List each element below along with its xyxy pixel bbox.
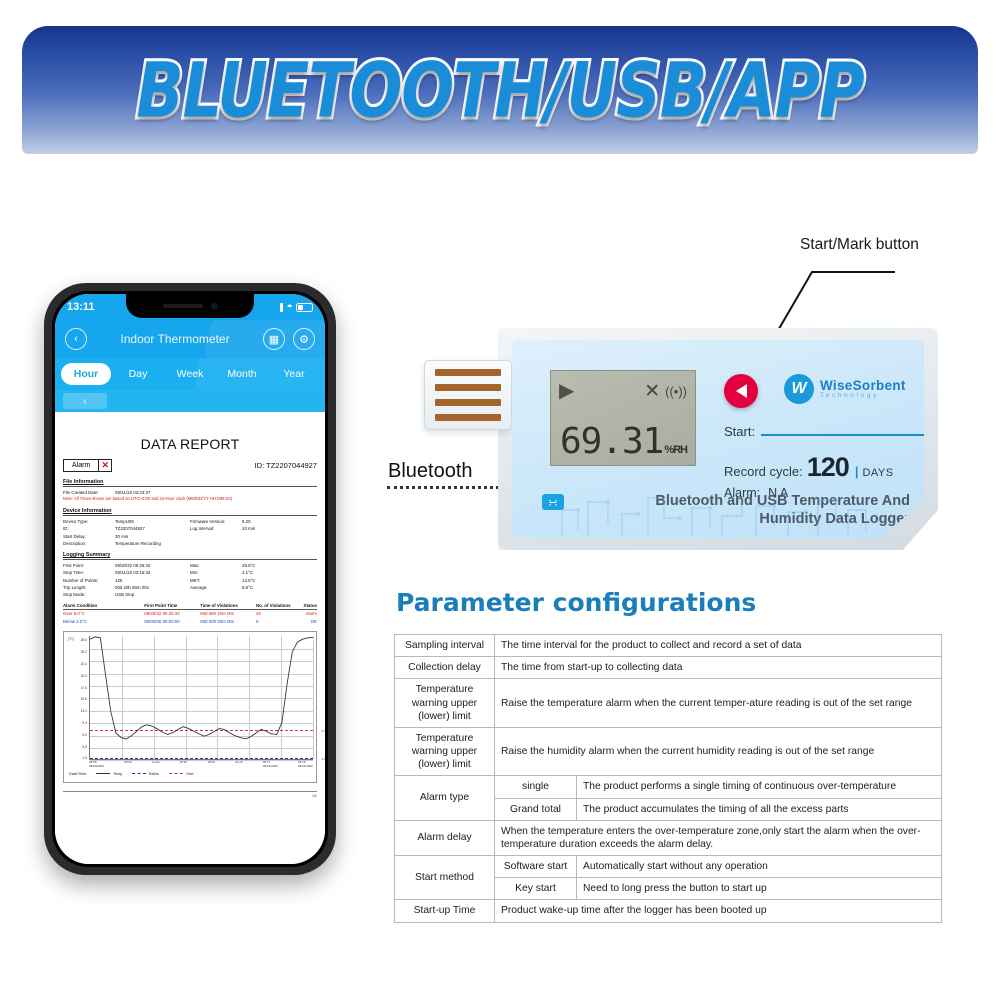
table-row: Temperature warning upper (lower) limit … bbox=[395, 727, 942, 776]
col-header: Alarm Condition bbox=[63, 603, 144, 608]
start-mark-button[interactable] bbox=[724, 374, 758, 408]
key: MKT: bbox=[190, 577, 242, 584]
y-tick: 17.8 bbox=[67, 686, 87, 690]
logging-left: First Point:09/20/22 06:26:32 Stop Time:… bbox=[63, 562, 190, 598]
lcd-unit: %RH bbox=[664, 445, 687, 459]
divider: | bbox=[855, 464, 859, 479]
report-title: DATA REPORT bbox=[63, 436, 317, 452]
key: First Point: bbox=[63, 562, 115, 569]
record-cycle-value: 120 bbox=[807, 452, 849, 483]
legend-item-below: Below bbox=[132, 772, 159, 776]
line-swatch bbox=[169, 773, 183, 774]
datetime-label: Date/Time bbox=[69, 772, 86, 776]
line-swatch bbox=[96, 773, 110, 774]
key: Start Delay: bbox=[63, 533, 115, 540]
y-tick: 6.0 bbox=[67, 733, 87, 737]
y-tick: 13.2 bbox=[67, 709, 87, 713]
sub-back-button[interactable]: ‹ bbox=[63, 393, 107, 409]
param-sub-label: Software start bbox=[495, 856, 577, 878]
value: 09/20/22 06:26:32 bbox=[115, 562, 190, 569]
kv-row: ID:TZ2207044927 bbox=[63, 525, 190, 532]
legend-item-temp: Temp bbox=[96, 772, 122, 776]
kv-row: Stop Mode:USB Stop bbox=[63, 591, 190, 598]
param-label: Start method bbox=[395, 856, 495, 900]
report-id: ID: TZ2207044927 bbox=[255, 461, 317, 470]
cell: 32 bbox=[256, 610, 297, 617]
param-label: Alarm delay bbox=[395, 820, 495, 855]
lcd-right-icons: ✕ ((•)) bbox=[644, 382, 687, 401]
table-row: Over 8.0°C 09/20/22 06:26:32 00d 05h 10m… bbox=[63, 610, 317, 617]
tab-month[interactable]: Month bbox=[217, 363, 267, 385]
phone-mockup: 13:11 ◓ ‹ Indoor Thermometer ▦ ⚙ Hour Da… bbox=[44, 283, 336, 875]
param-desc: The time from start-up to collecting dat… bbox=[495, 657, 942, 679]
file-information-heading: File Information bbox=[63, 479, 317, 487]
app-bar: ‹ Indoor Thermometer ▦ ⚙ bbox=[55, 320, 325, 358]
kv-row: Start Delay:30 min bbox=[63, 533, 190, 540]
param-label: Start-up Time bbox=[395, 900, 495, 922]
battery-icon bbox=[296, 303, 313, 312]
x-tick: 03:16 09/21/2022 bbox=[298, 761, 313, 768]
legend-item-over: Over bbox=[169, 772, 194, 776]
col-header: No. of Violations bbox=[256, 603, 297, 608]
key: Device Type: bbox=[63, 518, 115, 525]
chart-plot-area: 28.525.222.420.017.815.613.29.46.03.81.5… bbox=[67, 636, 313, 760]
app-title: Indoor Thermometer bbox=[95, 332, 255, 346]
cross-icon: ✕ bbox=[98, 460, 111, 471]
logging-summary-grid: First Point:09/20/22 06:26:32 Stop Time:… bbox=[63, 562, 317, 598]
value: 8.5°C bbox=[242, 584, 317, 591]
usb-pin bbox=[435, 369, 501, 376]
kv-row: Firmware Version:5.20 bbox=[190, 518, 317, 525]
kv-row: Log Interval:10 min bbox=[190, 525, 317, 532]
table-row: Start-up Time Product wake-up time after… bbox=[395, 900, 942, 922]
start-write-line bbox=[761, 434, 924, 436]
col-header: Status bbox=[297, 603, 317, 608]
plot-canvas: 8.0°C2.0°C bbox=[89, 636, 313, 760]
key: Description: bbox=[63, 540, 115, 547]
temperature-chart: [°C] 28.525.222.420.017.815.613.29.46.03… bbox=[63, 631, 317, 783]
lcd-indicator-row: ▶ ✕ ((•)) bbox=[559, 377, 687, 405]
cell: 00d 05h 10m 00s bbox=[200, 610, 256, 617]
x-tick: 06:26 09/20/2022 bbox=[89, 761, 104, 768]
param-desc: Need to long press the button to start u… bbox=[577, 878, 942, 900]
kv-row: Stop Time:09/21/22 03:16:32 bbox=[63, 569, 190, 576]
device-face: ▶ ✕ ((•)) 69.31 %RH W WiseSorbent Techno… bbox=[512, 340, 924, 538]
start-label: Start: bbox=[724, 424, 755, 439]
value: 28.5°C bbox=[242, 562, 317, 569]
param-label: Temperature warning upper (lower) limit bbox=[395, 727, 495, 776]
param-label: Collection delay bbox=[395, 657, 495, 679]
kv-row: Device Type:TempU05 bbox=[63, 518, 190, 525]
param-label: Sampling interval bbox=[395, 635, 495, 657]
value: TZ2207044927 bbox=[115, 525, 190, 532]
parameter-configurations-table: Sampling interval The time interval for … bbox=[394, 634, 942, 923]
sub-navigation-bar: ‹ bbox=[55, 390, 325, 412]
bar-chart-icon[interactable]: ▦ bbox=[263, 328, 285, 350]
status-icons: ◓ bbox=[280, 302, 313, 313]
play-icon: ▶ bbox=[559, 381, 574, 401]
banner-title: BLUETOOTH/USB/APP bbox=[136, 45, 863, 134]
temp-series-line bbox=[90, 636, 313, 759]
cell: Over 8.0°C bbox=[63, 610, 144, 617]
usb-pin bbox=[435, 399, 501, 406]
tab-hour[interactable]: Hour bbox=[61, 363, 111, 385]
earpiece-speaker bbox=[163, 304, 203, 308]
value: 5.20 bbox=[242, 518, 317, 525]
key: Log Interval: bbox=[190, 525, 242, 532]
line-swatch bbox=[132, 773, 146, 774]
table-row: Start method Software start Automaticall… bbox=[395, 856, 942, 878]
cell: Below 2.0°C bbox=[63, 618, 144, 625]
y-tick: 25.2 bbox=[67, 650, 87, 654]
param-desc: Product wake-up time after the logger ha… bbox=[495, 900, 942, 922]
x-tick: 15:20 bbox=[180, 761, 188, 768]
value: TempU05 bbox=[115, 518, 190, 525]
file-created-row: File Created Date: 09/21/22 03:24:37 bbox=[63, 489, 317, 496]
value: USB Stop bbox=[115, 591, 190, 598]
y-tick: 3.8 bbox=[67, 745, 87, 749]
key: Trip Length: bbox=[63, 584, 115, 591]
value: 14.5°C bbox=[242, 577, 317, 584]
threshold-label: 2.0°C bbox=[321, 757, 325, 761]
key: Average: bbox=[190, 584, 242, 591]
param-desc: Automatically start without any operatio… bbox=[577, 856, 942, 878]
gridline bbox=[313, 636, 314, 759]
col-header: Time of Violations bbox=[200, 603, 256, 608]
table-row: Sampling interval The time interval for … bbox=[395, 635, 942, 657]
cell: 00d 00h 00m 00s bbox=[200, 618, 256, 625]
kv-row: Description:Temperature Recording bbox=[63, 540, 190, 547]
param-desc: The product accumulates the timing of al… bbox=[577, 798, 942, 820]
param-sub-label: Key start bbox=[495, 878, 577, 900]
alarm-condition-table: Alarm Condition First Point Time Time of… bbox=[63, 603, 317, 625]
tab-year[interactable]: Year bbox=[269, 363, 319, 385]
cell: 0 bbox=[256, 618, 297, 625]
usb-pin bbox=[435, 384, 501, 391]
front-camera-icon bbox=[211, 303, 218, 310]
phone-screen: 13:11 ◓ ‹ Indoor Thermometer ▦ ⚙ Hour Da… bbox=[55, 294, 325, 864]
value: Temperature Recording bbox=[115, 540, 190, 547]
legend-label: Over bbox=[186, 772, 194, 776]
lcd-value: 69.31 bbox=[560, 425, 663, 459]
report-note: Note: All Times shown are based on UTC+0… bbox=[63, 496, 317, 503]
param-desc: The product performs a single timing of … bbox=[577, 776, 942, 798]
signal-icon bbox=[280, 303, 283, 312]
usb-connector bbox=[424, 360, 512, 430]
kv-row: MKT:14.5°C bbox=[190, 577, 317, 584]
col-header: First Point Time bbox=[144, 603, 200, 608]
report-header-row: Alarm ✕ ID: TZ2207044927 bbox=[63, 459, 317, 472]
value: 126 bbox=[115, 577, 190, 584]
data-report: DATA REPORT Alarm ✕ ID: TZ2207044927 Fil… bbox=[55, 412, 325, 864]
key: Max: bbox=[190, 562, 242, 569]
chart-legend: Date/Time Temp Below Over bbox=[67, 772, 313, 776]
key: Number of Points: bbox=[63, 577, 115, 584]
param-desc: The time interval for the product to col… bbox=[495, 635, 942, 657]
table-row: Below 2.0°C 00/00/00 00:00:00 00d 00h 00… bbox=[63, 618, 317, 625]
param-desc: Raise the humidity alarm when the curren… bbox=[495, 727, 942, 776]
record-cycle-label: Record cycle: bbox=[724, 464, 803, 479]
record-cycle-unit: DAYS bbox=[862, 467, 893, 479]
alarm-status-badge: Alarm ✕ bbox=[63, 459, 112, 472]
wifi-icon: ◓ bbox=[286, 302, 293, 313]
cross-icon: ✕ bbox=[644, 382, 660, 401]
param-sub-label: single bbox=[495, 776, 577, 798]
brand-tagline: Technology bbox=[820, 393, 906, 400]
y-axis-unit: [°C] bbox=[68, 637, 74, 641]
param-sub-label: Grand total bbox=[495, 798, 577, 820]
param-desc: Raise the temperature alarm when the cur… bbox=[495, 679, 942, 728]
kv-row: Trip Length:00d 20h 50m 00s bbox=[63, 584, 190, 591]
kv-row: Min:4.1°C bbox=[190, 569, 317, 576]
x-tick: 21:15 bbox=[235, 761, 243, 768]
file-created-value: 09/21/22 03:24:37 bbox=[115, 489, 317, 496]
value: 30 min bbox=[115, 533, 190, 540]
y-axis-ticks: 28.525.222.420.017.815.613.29.46.03.81.5 bbox=[67, 636, 89, 760]
value: 4.1°C bbox=[242, 569, 317, 576]
device-info-right: Firmware Version:5.20 Log Interval:10 mi… bbox=[190, 518, 317, 547]
key: Stop Mode: bbox=[63, 591, 115, 598]
kv-row: Max:28.5°C bbox=[190, 562, 317, 569]
phone-bezel: 13:11 ◓ ‹ Indoor Thermometer ▦ ⚙ Hour Da… bbox=[52, 291, 328, 867]
logging-summary-heading: Logging Summary bbox=[63, 552, 317, 560]
cell: Alarm bbox=[297, 610, 317, 617]
cell: 00/00/00 00:00:00 bbox=[144, 618, 200, 625]
legend-label: Temp bbox=[113, 772, 122, 776]
file-created-key: File Created Date: bbox=[63, 489, 115, 496]
y-tick: 20.0 bbox=[67, 674, 87, 678]
tab-day[interactable]: Day bbox=[113, 363, 163, 385]
x-tick: 00:17 09/21/2022 bbox=[263, 761, 278, 768]
wireless-icon: ((•)) bbox=[665, 384, 687, 399]
x-axis-ticks: 06:26 09/20/202209:2012:2015:2018:2021:1… bbox=[89, 760, 313, 768]
start-field: Start: bbox=[724, 424, 924, 439]
back-button[interactable]: ‹ bbox=[65, 328, 87, 350]
key: Min: bbox=[190, 569, 242, 576]
y-tick: 9.4 bbox=[67, 721, 87, 725]
threshold-label: 8.0°C bbox=[321, 729, 325, 733]
gear-icon[interactable]: ⚙ bbox=[293, 328, 315, 350]
value: 00d 20h 50m 00s bbox=[115, 584, 190, 591]
brand-text: WiseSorbent Technology bbox=[820, 379, 906, 400]
key: Firmware Version: bbox=[190, 518, 242, 525]
report-page-number: 1/2 bbox=[63, 791, 317, 798]
kv-row: First Point:09/20/22 06:26:32 bbox=[63, 562, 190, 569]
logging-right: Max:28.5°C Min:4.1°C MKT:14.5°C Average:… bbox=[190, 562, 317, 598]
key: Stop Time: bbox=[63, 569, 115, 576]
alarm-badge-label: Alarm bbox=[64, 460, 98, 471]
phone-notch bbox=[126, 294, 254, 318]
device-information-heading: Device Information bbox=[63, 508, 317, 516]
table-row: Alarm delay When the temperature enters … bbox=[395, 820, 942, 855]
value: 09/21/22 03:16:32 bbox=[115, 569, 190, 576]
device-information-grid: Device Type:TempU05 ID:TZ2207044927 Star… bbox=[63, 518, 317, 547]
y-tick: 22.4 bbox=[67, 662, 87, 666]
bluetooth-label: Bluetooth bbox=[388, 460, 473, 483]
brand-name: WiseSorbent bbox=[820, 379, 906, 393]
record-cycle-field: Record cycle: 120 | DAYS bbox=[724, 452, 894, 483]
brand-logo: W WiseSorbent Technology bbox=[784, 374, 906, 404]
param-label: Alarm type bbox=[395, 776, 495, 820]
circuit-pattern-icon bbox=[552, 488, 882, 536]
triangle-icon bbox=[736, 384, 747, 398]
bluetooth-dotted-line bbox=[387, 486, 499, 489]
param-desc: When the temperature enters the over-tem… bbox=[495, 820, 942, 855]
data-logger-device: ▶ ✕ ((•)) 69.31 %RH W WiseSorbent Techno… bbox=[498, 328, 938, 550]
x-tick: 09:20 bbox=[124, 761, 132, 768]
key: ID: bbox=[63, 525, 115, 532]
x-tick: 18:20 bbox=[207, 761, 215, 768]
lcd-display: ▶ ✕ ((•)) 69.31 %RH bbox=[550, 370, 696, 466]
y-tick: 15.6 bbox=[67, 697, 87, 701]
legend-label: Below bbox=[149, 772, 159, 776]
cell: OK bbox=[297, 618, 317, 625]
x-tick: 12:20 bbox=[152, 761, 160, 768]
period-tabs: Hour Day Week Month Year bbox=[55, 358, 325, 390]
cell: 09/20/22 06:26:32 bbox=[144, 610, 200, 617]
table-row: Temperature warning upper (lower) limit … bbox=[395, 679, 942, 728]
status-time: 13:11 bbox=[67, 301, 95, 313]
y-tick: 1.5 bbox=[67, 756, 87, 760]
parameter-section-title: Parameter configurations bbox=[396, 588, 756, 617]
usb-pin bbox=[435, 414, 501, 421]
gridline bbox=[90, 760, 313, 761]
table-row: Alarm type single The product performs a… bbox=[395, 776, 942, 798]
kv-row: Number of Points:126 bbox=[63, 577, 190, 584]
brand-mark-icon: W bbox=[784, 374, 814, 404]
table-row: Collection delay The time from start-up … bbox=[395, 657, 942, 679]
header-banner: BLUETOOTH/USB/APP bbox=[22, 26, 978, 154]
param-label: Temperature warning upper (lower) limit bbox=[395, 679, 495, 728]
table-header-row: Alarm Condition First Point Time Time of… bbox=[63, 603, 317, 610]
value: 10 min bbox=[242, 525, 317, 532]
device-info-left: Device Type:TempU05 ID:TZ2207044927 Star… bbox=[63, 518, 190, 547]
tab-week[interactable]: Week bbox=[165, 363, 215, 385]
kv-row: Average:8.5°C bbox=[190, 584, 317, 591]
lcd-reading: 69.31 %RH bbox=[559, 405, 687, 459]
